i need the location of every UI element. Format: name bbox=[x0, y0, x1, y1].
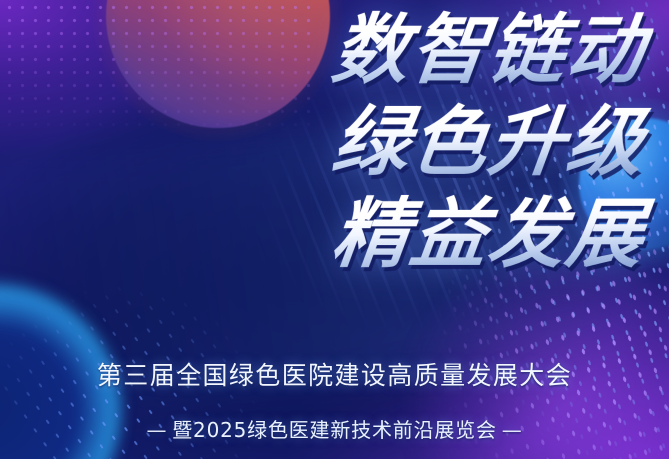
headline-line-2: 绿色升级 bbox=[0, 96, 657, 188]
headline-block: 数智链动 绿色升级 精益发展 bbox=[0, 4, 651, 280]
dash-left-icon: — bbox=[141, 418, 172, 442]
subtitle-block: 第三届全国绿色医院建设高质量发展大会 —暨2025绿色医建新技术前沿展览会— bbox=[0, 356, 669, 447]
exhibition-title: 暨2025绿色医建新技术前沿展览会 bbox=[172, 418, 497, 442]
dash-right-icon: — bbox=[497, 418, 528, 442]
headline-line-1: 数智链动 bbox=[0, 4, 657, 96]
conference-title: 第三届全国绿色医院建设高质量发展大会 bbox=[0, 356, 669, 392]
exhibition-title-row: —暨2025绿色医建新技术前沿展览会— bbox=[0, 414, 669, 443]
headline-line-3: 精益发展 bbox=[0, 188, 657, 280]
conference-poster: 数智链动 绿色升级 精益发展 第三届全国绿色医院建设高质量发展大会 —暨2025… bbox=[0, 0, 669, 459]
